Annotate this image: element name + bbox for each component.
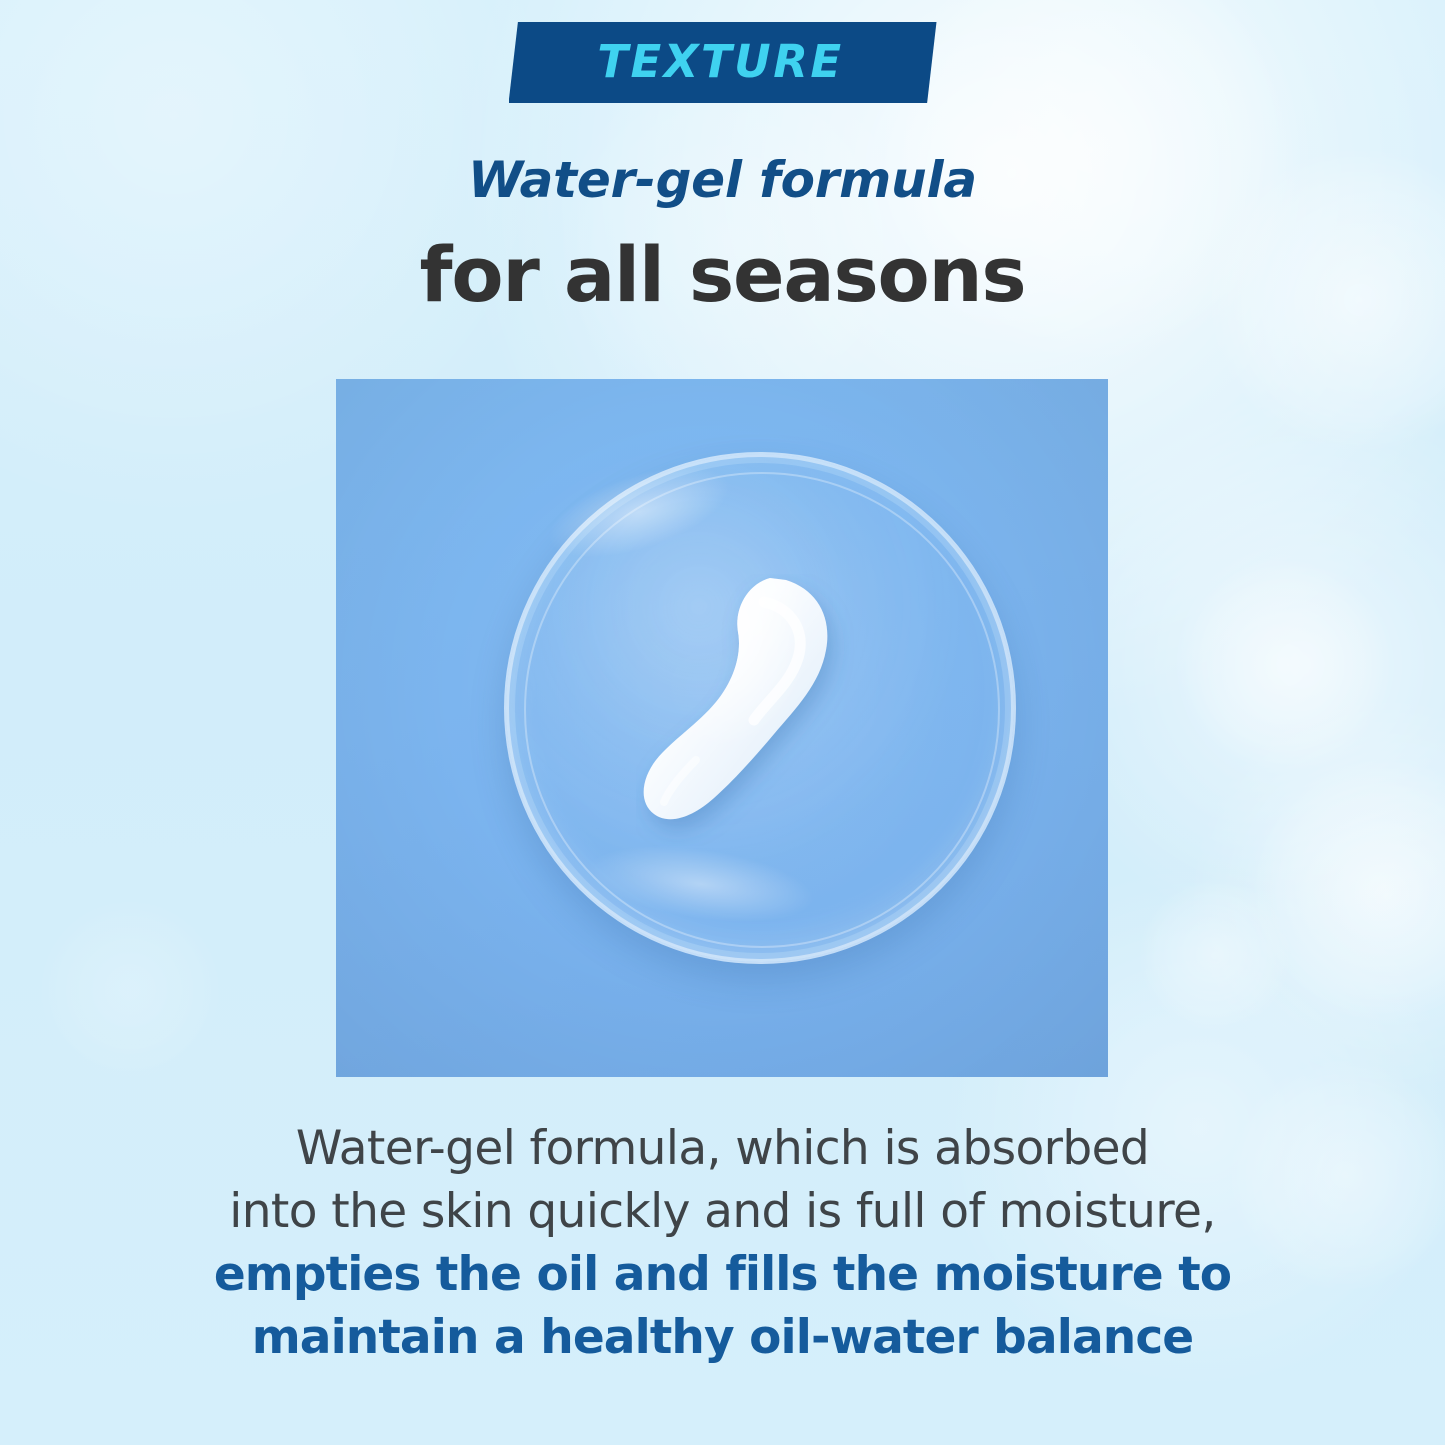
bokeh-light-5: [1140, 880, 1290, 1030]
cream-swirl: [636, 574, 854, 846]
heading-block: Water-gel formula for all seasons: [0, 152, 1445, 317]
description-line-2: into the skin quickly and is full of moi…: [60, 1181, 1385, 1244]
description-block: Water-gel formula, which is absorbed int…: [0, 1118, 1445, 1370]
texture-banner: TEXTURE: [509, 22, 937, 103]
texture-product-photo: [336, 379, 1108, 1077]
section-banner-wrapper: TEXTURE: [0, 22, 1445, 103]
subheading: Water-gel formula: [0, 152, 1445, 210]
texture-banner-label: TEXTURE: [571, 38, 871, 85]
bokeh-light-3: [1180, 560, 1390, 770]
bokeh-light-4: [1250, 760, 1445, 1020]
description-line-3: empties the oil and fills the moisture t…: [60, 1244, 1385, 1307]
description-line-1: Water-gel formula, which is absorbed: [60, 1118, 1385, 1181]
description-line-4: maintain a healthy oil-water balance: [60, 1307, 1385, 1370]
product-detail-page: TEXTURE Water-gel formula for all season…: [0, 0, 1445, 1445]
page-title: for all seasons: [0, 232, 1445, 317]
bokeh-light-7: [40, 900, 220, 1080]
